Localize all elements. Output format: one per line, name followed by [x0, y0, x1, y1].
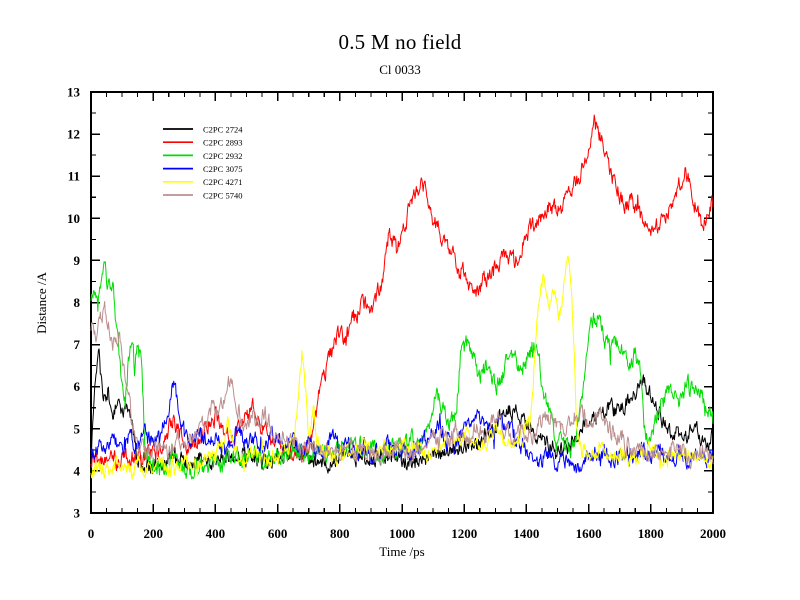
x-tick-label: 1000 — [389, 526, 415, 541]
x-tick-label: 1200 — [451, 526, 477, 541]
figure-canvas: 0.5 M no field Cl 0033 02004006008001000… — [0, 0, 800, 600]
x-tick-label: 600 — [268, 526, 288, 541]
x-tick-label: 1400 — [513, 526, 539, 541]
x-tick-label: 0 — [88, 526, 95, 541]
y-tick-label: 12 — [67, 127, 80, 142]
y-tick-label: 9 — [74, 253, 81, 268]
y-tick-label: 13 — [67, 85, 81, 100]
x-tick-label: 800 — [330, 526, 350, 541]
y-tick-label: 10 — [67, 211, 80, 226]
x-tick-label: 1800 — [638, 526, 664, 541]
chart-legend: C2PC 2724C2PC 2893C2PC 2932C2PC 3075C2PC… — [163, 124, 243, 200]
y-axis-tick-labels: 345678910111213 — [67, 85, 81, 521]
legend-label: C2PC 2724 — [203, 124, 243, 134]
y-tick-label: 6 — [74, 379, 81, 394]
y-tick-label: 3 — [74, 506, 81, 521]
legend-label: C2PC 3075 — [203, 164, 242, 174]
x-tick-label: 200 — [143, 526, 163, 541]
x-tick-label: 2000 — [700, 526, 726, 541]
legend-label: C2PC 4271 — [203, 177, 242, 187]
y-tick-label: 5 — [74, 421, 81, 436]
y-tick-label: 7 — [74, 337, 81, 352]
x-axis-title: Time /ps — [379, 544, 424, 559]
x-tick-label: 1600 — [576, 526, 602, 541]
y-tick-label: 8 — [74, 295, 81, 310]
y-axis-title: Distance /A — [34, 272, 49, 334]
x-tick-label: 400 — [206, 526, 226, 541]
data-series-group — [91, 115, 713, 479]
legend-label: C2PC 5740 — [203, 190, 242, 200]
x-axis-tick-labels: 0200400600800100012001400160018002000 — [88, 526, 726, 541]
plot-area: 0200400600800100012001400160018002000 34… — [0, 0, 800, 600]
series-line-c2pc-5740 — [91, 301, 713, 468]
legend-label: C2PC 2932 — [203, 151, 242, 161]
y-tick-label: 4 — [74, 463, 81, 478]
legend-label: C2PC 2893 — [203, 138, 242, 148]
y-tick-label: 11 — [68, 169, 80, 184]
